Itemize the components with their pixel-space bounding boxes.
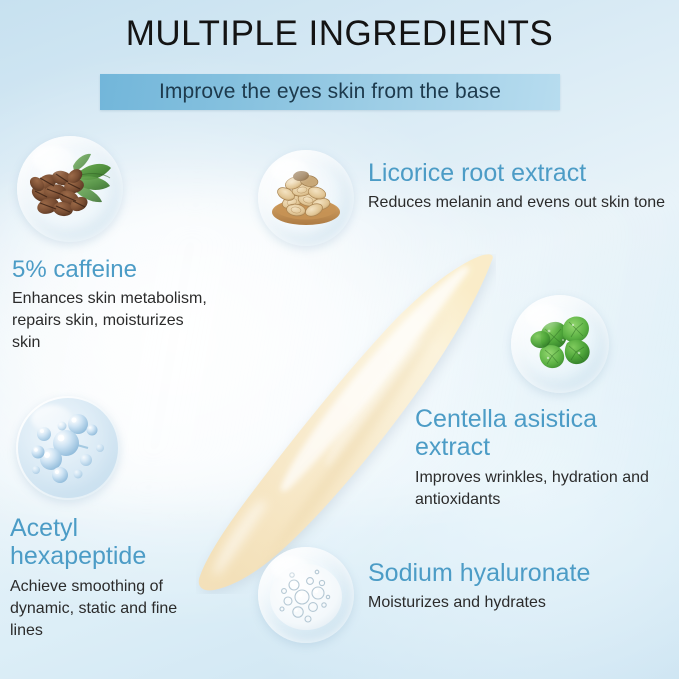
ingredient-name: Centella asistica extract — [415, 405, 670, 462]
ingredient-name: 5% caffeine — [12, 256, 212, 283]
coffee-beans-icon — [17, 136, 123, 242]
ingredient-sodium: Sodium hyaluronate Moisturizes and hydra… — [258, 547, 678, 643]
ingredient-description: Moisturizes and hydrates — [368, 592, 590, 614]
ingredient-description: Improves wrinkles, hydration and antioxi… — [415, 467, 670, 511]
page-title: MULTIPLE INGREDIENTS — [0, 14, 679, 54]
hyaluronic-gel-bubbles-icon — [258, 547, 354, 643]
ingredient-name: Licorice root extract — [368, 159, 665, 187]
ingredient-licorice: Licorice root extract Reduces melanin an… — [258, 150, 678, 246]
centella-leaves-icon — [511, 295, 609, 393]
infographic-canvas: MULTIPLE INGREDIENTS Improve the eyes sk… — [0, 0, 679, 679]
ingredient-acetyl: Acetyl hexapeptide Achieve smoothing of … — [10, 396, 205, 642]
subtitle-text: Improve the eyes skin from the base — [159, 80, 501, 104]
subtitle-banner: Improve the eyes skin from the base — [100, 74, 560, 110]
ingredient-description: Achieve smoothing of dynamic, static and… — [10, 576, 205, 642]
ingredient-description: Reduces melanin and evens out skin tone — [368, 192, 665, 214]
ingredient-name: Acetyl hexapeptide — [10, 514, 205, 571]
peptide-molecule-icon — [16, 396, 120, 500]
licorice-root-slices-icon — [258, 150, 354, 246]
ingredient-name: Sodium hyaluronate — [368, 559, 590, 587]
ingredient-centella: Centella asistica extract Improves wrink… — [415, 295, 670, 511]
ingredient-description: Enhances skin metabolism, repairs skin, … — [12, 288, 212, 354]
ingredient-caffeine: 5% caffeine Enhances skin metabolism, re… — [12, 136, 212, 354]
